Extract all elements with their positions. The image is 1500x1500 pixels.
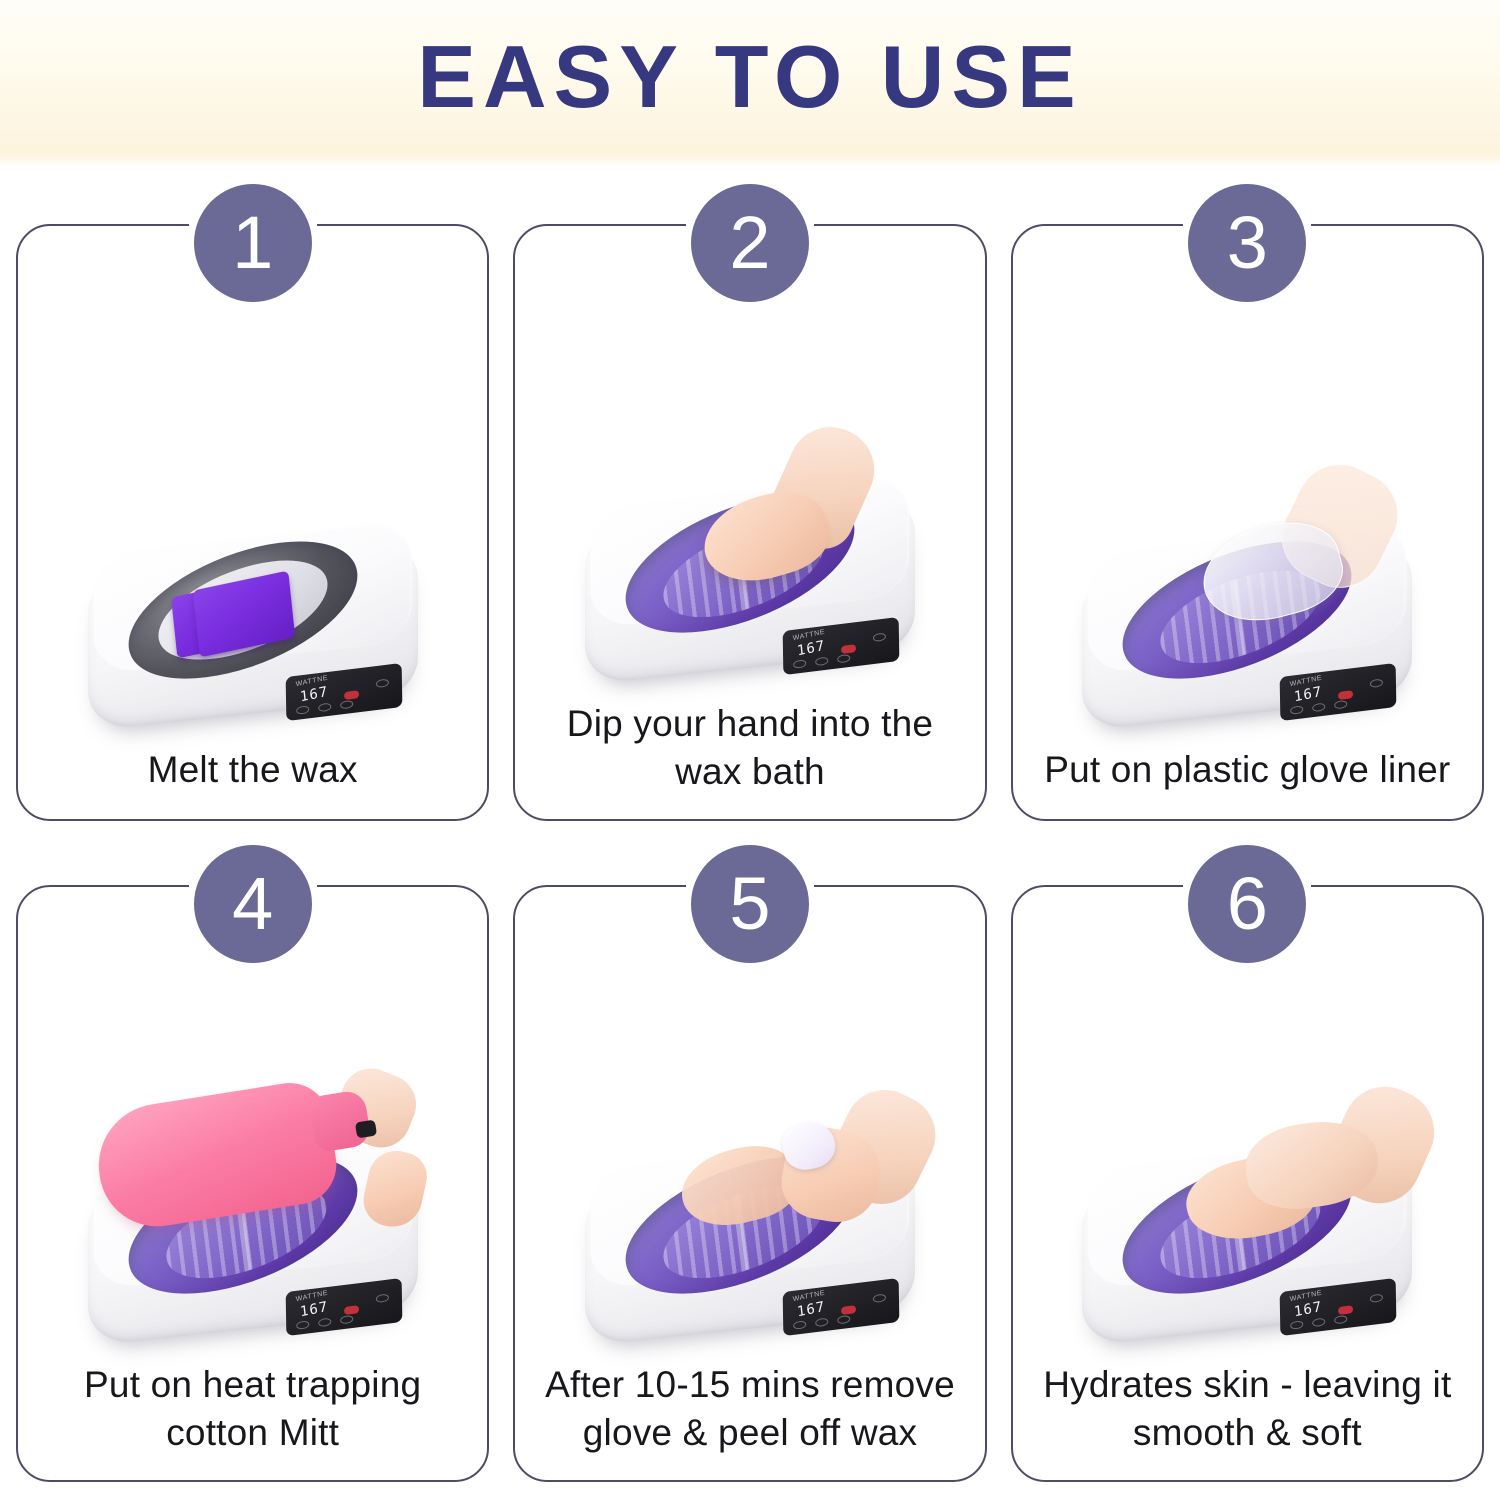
step-caption-line2: cotton Mitt bbox=[36, 1409, 469, 1456]
step-card-1[interactable]: 1 WATTNE 167 bbox=[16, 224, 489, 821]
power-indicator-icon bbox=[1338, 1305, 1353, 1315]
minus-button-icon[interactable] bbox=[318, 1318, 331, 1328]
step-number-badge-6: 6 bbox=[1188, 845, 1306, 963]
mode-button-icon[interactable] bbox=[1370, 1294, 1383, 1304]
wax-warmer-icon: WATTNE 167 bbox=[88, 1145, 418, 1355]
mode-button-icon[interactable] bbox=[376, 678, 389, 688]
power-indicator-icon bbox=[1338, 690, 1353, 700]
temperature-display: 167 bbox=[1294, 683, 1324, 705]
step-number-badge-1: 1 bbox=[194, 184, 312, 302]
step-caption-3: Put on plastic glove liner bbox=[1013, 746, 1482, 809]
power-indicator-icon bbox=[344, 1305, 359, 1315]
step-number-badge-5: 5 bbox=[691, 845, 809, 963]
power-button-icon[interactable] bbox=[296, 1321, 309, 1331]
mode-button-icon[interactable] bbox=[873, 633, 886, 643]
wax-warmer-icon: WATTNE 167 bbox=[1082, 1145, 1412, 1355]
step-caption-line2: wax bath bbox=[533, 748, 966, 795]
step-number-badge-3: 3 bbox=[1188, 184, 1306, 302]
power-button-icon[interactable] bbox=[793, 660, 806, 670]
wax-warmer-icon: WATTNE 167 bbox=[88, 530, 418, 740]
step-caption-line1: Hydrates skin - leaving it bbox=[1031, 1361, 1464, 1408]
step-illustration-6: WATTNE 167 bbox=[1013, 959, 1482, 1361]
step-caption-line1: Dip your hand into the bbox=[533, 700, 966, 747]
power-button-icon[interactable] bbox=[793, 1321, 806, 1331]
step-illustration-4: WATTNE 167 bbox=[18, 959, 487, 1361]
step-caption-2: Dip your hand into the wax bath bbox=[515, 700, 984, 809]
minus-button-icon[interactable] bbox=[1312, 1318, 1325, 1328]
step-illustration-5: WATTNE 167 bbox=[515, 959, 984, 1361]
plus-button-icon[interactable] bbox=[340, 700, 353, 710]
step-card-5[interactable]: 5 WATTNE bbox=[513, 885, 986, 1482]
step-card-4[interactable]: 4 bbox=[16, 885, 489, 1482]
step-number-badge-2: 2 bbox=[691, 184, 809, 302]
power-button-icon[interactable] bbox=[296, 705, 309, 715]
step-illustration-1: WATTNE 167 bbox=[18, 298, 487, 746]
power-indicator-icon bbox=[841, 644, 856, 654]
minus-button-icon[interactable] bbox=[815, 657, 828, 667]
step-caption-line2: glove & peel off wax bbox=[533, 1409, 966, 1456]
step-card-body-2: WATTNE 167 Dip your hand into the wax ba… bbox=[515, 226, 984, 819]
plus-button-icon[interactable] bbox=[1334, 1315, 1347, 1325]
step-card-body-5: WATTNE 167 After 10-15 mins remove glove… bbox=[515, 887, 984, 1480]
wax-warmer-icon: WATTNE 167 bbox=[585, 484, 915, 694]
step-caption-line1: Put on heat trapping bbox=[36, 1361, 469, 1408]
header-band: EASY TO USE bbox=[0, 0, 1500, 168]
wax-warmer-icon: WATTNE 167 bbox=[585, 1145, 915, 1355]
minus-button-icon[interactable] bbox=[318, 702, 331, 712]
step-card-3[interactable]: 3 WATTNE 167 bbox=[1011, 224, 1484, 821]
plus-button-icon[interactable] bbox=[1334, 700, 1347, 710]
plus-button-icon[interactable] bbox=[837, 654, 850, 664]
step-card-body-6: WATTNE 167 Hydrates skin - leaving it sm… bbox=[1013, 887, 1482, 1480]
step-card-6[interactable]: 6 WATTNE bbox=[1011, 885, 1484, 1482]
power-button-icon[interactable] bbox=[1290, 1321, 1303, 1331]
step-caption-line1: Melt the wax bbox=[36, 746, 469, 793]
step-caption-1: Melt the wax bbox=[18, 746, 487, 809]
step-caption-6: Hydrates skin - leaving it smooth & soft bbox=[1013, 1361, 1482, 1470]
plus-button-icon[interactable] bbox=[837, 1315, 850, 1325]
minus-button-icon[interactable] bbox=[815, 1318, 828, 1328]
power-indicator-icon bbox=[344, 690, 359, 700]
page-title: EASY TO USE bbox=[0, 18, 1500, 136]
steps-grid: 1 WATTNE 167 bbox=[16, 182, 1484, 1482]
step-caption-line1: After 10-15 mins remove bbox=[533, 1361, 966, 1408]
plus-button-icon[interactable] bbox=[340, 1315, 353, 1325]
step-illustration-2: WATTNE 167 bbox=[515, 298, 984, 700]
power-button-icon[interactable] bbox=[1290, 705, 1303, 715]
step-caption-line1: Put on plastic glove liner bbox=[1031, 746, 1464, 793]
mode-button-icon[interactable] bbox=[873, 1294, 886, 1304]
step-caption-5: After 10-15 mins remove glove & peel off… bbox=[515, 1361, 984, 1470]
mode-button-icon[interactable] bbox=[1370, 678, 1383, 688]
step-caption-4: Put on heat trapping cotton Mitt bbox=[18, 1361, 487, 1470]
step-number-badge-4: 4 bbox=[194, 845, 312, 963]
wax-warmer-icon: WATTNE 167 bbox=[1082, 530, 1412, 740]
step-card-body-1: WATTNE 167 Melt the wax bbox=[18, 226, 487, 819]
step-card-body-3: WATTNE 167 Put on plastic glove liner bbox=[1013, 226, 1482, 819]
minus-button-icon[interactable] bbox=[1312, 702, 1325, 712]
step-card-body-4: WATTNE 167 Put on heat trapping cotton M… bbox=[18, 887, 487, 1480]
step-card-2[interactable]: 2 WATTNE 167 bbox=[513, 224, 986, 821]
infographic-page: EASY TO USE 1 bbox=[0, 0, 1500, 1500]
step-caption-line2: smooth & soft bbox=[1031, 1409, 1464, 1456]
power-indicator-icon bbox=[841, 1305, 856, 1315]
mode-button-icon[interactable] bbox=[376, 1294, 389, 1304]
step-illustration-3: WATTNE 167 bbox=[1013, 298, 1482, 746]
